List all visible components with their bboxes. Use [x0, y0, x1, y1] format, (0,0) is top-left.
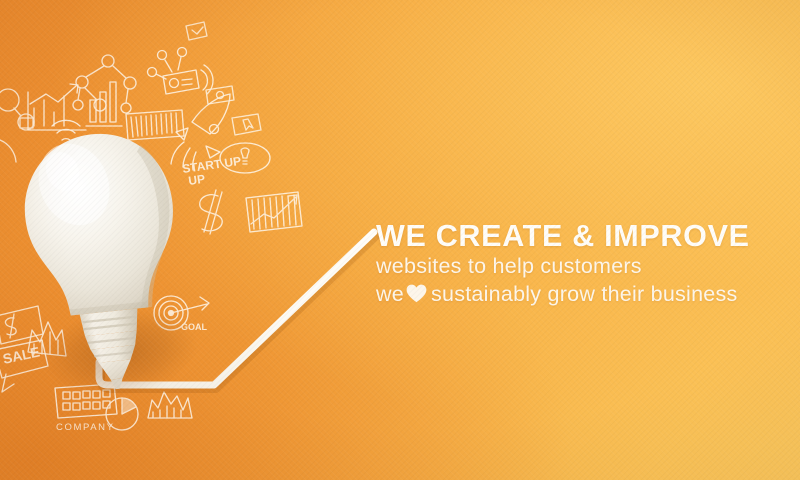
banner-copy: WE CREATE & IMPROVE websites to help cus…: [376, 219, 780, 310]
banner-subline-2-prefix: we: [376, 282, 404, 306]
banner-subline-2-suffix: sustainably grow their business: [431, 282, 738, 306]
bulb-glass: [17, 127, 183, 319]
heart-icon: [406, 283, 427, 310]
lightbulb-photo: [0, 120, 230, 410]
banner-subline-1: websites to help customers: [376, 253, 780, 280]
banner-headline: WE CREATE & IMPROVE: [376, 219, 780, 253]
lightbulb-svg: [0, 120, 230, 410]
promo-banner: START UP UP: [0, 0, 800, 480]
banner-subline-2: wesustainably grow their business: [376, 281, 780, 310]
